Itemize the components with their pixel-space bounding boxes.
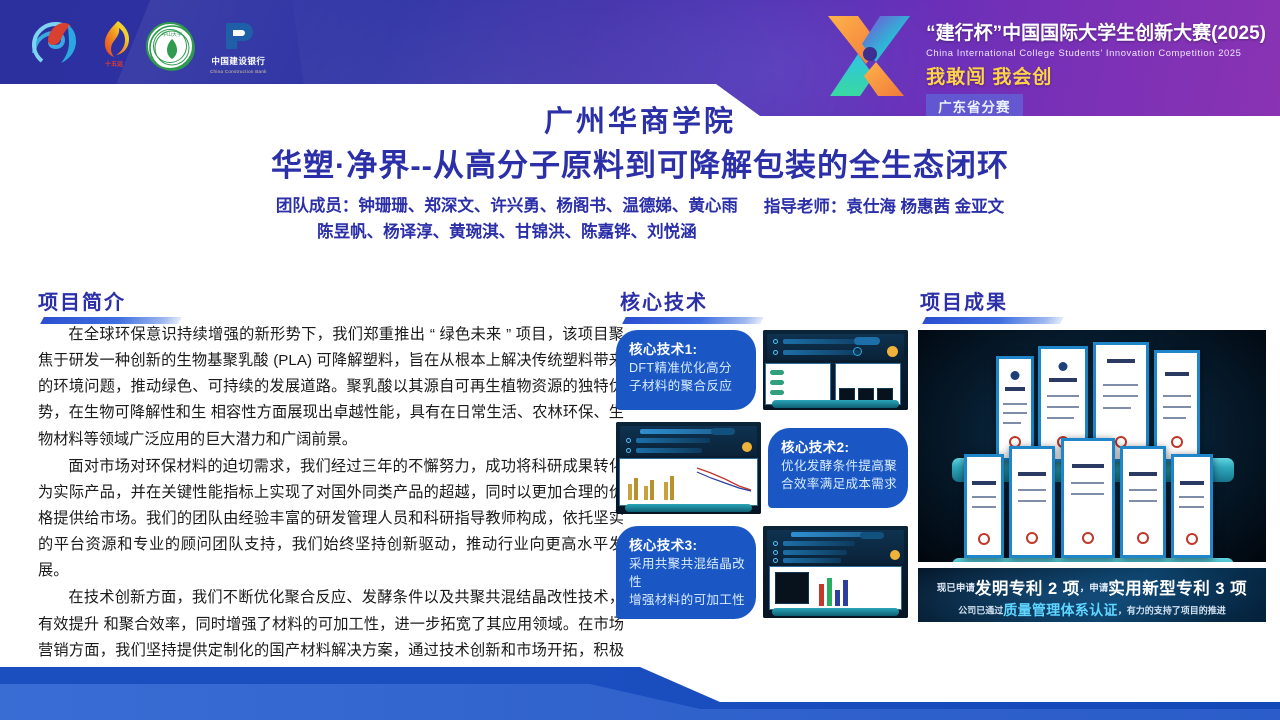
advisors-names: 袁仕海 杨惠茜 金亚文 bbox=[846, 198, 1004, 216]
tech-card-3-desc-line-1: 采用共聚共混结晶改性 bbox=[629, 556, 746, 592]
footer-band bbox=[0, 660, 1280, 720]
university-seal-logo: 中山大学 bbox=[146, 22, 194, 70]
patent-line1-mid: ，申请 bbox=[1080, 583, 1109, 594]
certificate-item bbox=[1009, 446, 1055, 558]
competition-slogan: 我敢闯 我会创 bbox=[926, 62, 1266, 89]
ccb-bank-logo: 中国建设银行 China Construction Bank bbox=[210, 19, 267, 74]
wave-emblem-logo bbox=[28, 19, 82, 74]
flame-torch-logo: 十五运 bbox=[98, 19, 130, 74]
team-members-line-1: 团队成员：钟珊珊、郑深文、许兴勇、杨阁书、温德娣、黄心雨 bbox=[276, 194, 738, 220]
wave-emblem-icon bbox=[28, 19, 82, 69]
tech-card-3-desc-line-2: 增强材料的可加工性 bbox=[629, 592, 746, 610]
tech-card-2-title: 核心技术2: bbox=[781, 436, 898, 456]
intro-text-column: 在全球环保意识持续增强的新形势下，我们郑重推出 “ 绿色未来 ” 项目，该项目聚… bbox=[38, 322, 624, 717]
ccb-mark-icon bbox=[218, 19, 258, 53]
core-technology-column: 核心技术1: DFT精准优化高分 子材料的聚合反应 bbox=[616, 330, 908, 631]
tech-slide-photo-2 bbox=[616, 422, 761, 514]
tech-card-1: 核心技术1: DFT精准优化高分 子材料的聚合反应 bbox=[616, 330, 756, 410]
sponsor-logo-strip: 十五运 中山大学 中国建设银行 China Construction Bank bbox=[28, 18, 267, 74]
section-heading-intro-label: 项目简介 bbox=[38, 286, 180, 315]
project-results-column: 现已申请发明专利 2 项，申请实用新型专利 3 项 公司已通过质量管理体系认证，… bbox=[918, 330, 1266, 622]
patent-line1-utility: 实用新型专利 3 项 bbox=[1108, 580, 1247, 598]
tech-card-3: 核心技术3: 采用共聚共混结晶改性 增强材料的可加工性 bbox=[616, 526, 756, 619]
tech-row-2: 核心技术2: 优化发酵条件提高聚 合效率满足成本需求 bbox=[616, 422, 908, 514]
tech-row-3: 核心技术3: 采用共聚共混结晶改性 增强材料的可加工性 bbox=[616, 526, 908, 619]
competition-x-logo-icon bbox=[818, 10, 918, 102]
section-heading-results-rule bbox=[922, 317, 1064, 324]
tech-row-1: 核心技术1: DFT精准优化高分 子材料的聚合反应 bbox=[616, 330, 908, 410]
intro-paragraph-2: 面对市场对环保材料的迫切需求，我们经过三年的不懈努力，成功将科研成果转化为实际产… bbox=[38, 454, 624, 585]
poster-root: 十五运 中山大学 中国建设银行 China Construction Bank bbox=[0, 0, 1280, 720]
svg-text:十五运: 十五运 bbox=[105, 60, 123, 68]
team-members-label: 团队成员： bbox=[276, 197, 359, 215]
advisors-label: 指导老师： bbox=[764, 198, 847, 216]
competition-title-en: China International College Students’ In… bbox=[926, 47, 1266, 58]
section-heading-results: 项目成果 bbox=[920, 286, 1062, 324]
title-block: 广州华商学院 华塑·净界--从高分子原料到可降解包装的全生态闭环 团队成员：钟珊… bbox=[0, 104, 1280, 245]
tech-card-1-title: 核心技术1: bbox=[629, 338, 746, 358]
tech-card-1-desc-line-2: 子材料的聚合反应 bbox=[629, 378, 746, 396]
people-row: 团队成员：钟珊珊、郑深文、许兴勇、杨阁书、温德娣、黄心雨 陈昱帆、杨译淳、黄琬淇… bbox=[0, 194, 1280, 245]
patent-banner-line-1: 现已申请发明专利 2 项，申请实用新型专利 3 项 bbox=[918, 575, 1266, 599]
tech-slide-photo-1 bbox=[763, 330, 908, 410]
section-heading-tech-label: 核心技术 bbox=[620, 286, 762, 315]
project-title: 华塑·净界--从高分子原料到可降解包装的全生态闭环 bbox=[0, 145, 1280, 187]
certificates-display-photo bbox=[918, 330, 1266, 562]
tech-card-2-desc-line-2: 合效率满足成本需求 bbox=[781, 476, 898, 494]
competition-title-cn: “建行杯”中国国际大学生创新大赛(2025) bbox=[926, 18, 1266, 45]
patent-line1-prefix: 现已申请 bbox=[937, 583, 975, 594]
patent-line2-suffix: ，有力的支持了项目的推进 bbox=[1118, 606, 1226, 616]
patent-line2-prefix: 公司已通过 bbox=[958, 606, 1003, 616]
section-heading-tech: 核心技术 bbox=[620, 286, 762, 324]
section-heading-intro: 项目简介 bbox=[38, 286, 180, 324]
display-shelf-lower bbox=[952, 558, 1234, 562]
patent-line2-cert: 质量管理体系认证 bbox=[1003, 602, 1117, 618]
team-members-block: 团队成员：钟珊珊、郑深文、许兴勇、杨阁书、温德娣、黄心雨 陈昱帆、杨译淳、黄琬淇… bbox=[276, 194, 738, 245]
section-heading-tech-rule bbox=[622, 317, 764, 324]
team-members-names-1: 钟珊珊、郑深文、许兴勇、杨阁书、温德娣、黄心雨 bbox=[358, 197, 738, 215]
tech-slide-photo-3 bbox=[763, 526, 908, 618]
patent-status-banner: 现已申请发明专利 2 项，申请实用新型专利 3 项 公司已通过质量管理体系认证，… bbox=[918, 568, 1266, 622]
tech-card-1-desc-line-1: DFT精准优化高分 bbox=[629, 360, 746, 378]
flame-torch-icon: 十五运 bbox=[98, 19, 130, 69]
tech-card-3-title: 核心技术3: bbox=[629, 534, 746, 554]
team-members-line-2: 陈昱帆、杨译淳、黄琬淇、甘锦洪、陈嘉铧、刘悦涵 bbox=[276, 220, 738, 246]
certificate-item bbox=[1120, 446, 1166, 558]
school-name: 广州华商学院 bbox=[0, 104, 1280, 140]
university-seal-icon: 中山大学 bbox=[148, 24, 196, 72]
certificate-item bbox=[964, 454, 1004, 558]
section-heading-results-label: 项目成果 bbox=[920, 286, 1062, 315]
advisors-block: 指导老师：袁仕海 杨惠茜 金亚文 bbox=[764, 194, 1004, 221]
patent-line1-invention: 发明专利 2 项 bbox=[975, 580, 1080, 598]
certificate-item bbox=[1061, 438, 1115, 558]
ccb-name-en: China Construction Bank bbox=[210, 69, 267, 74]
tech-card-2: 核心技术2: 优化发酵条件提高聚 合效率满足成本需求 bbox=[768, 428, 908, 508]
tech-card-2-desc-line-1: 优化发酵条件提高聚 bbox=[781, 458, 898, 476]
competition-lockup: “建行杯”中国国际大学生创新大赛(2025) China Internation… bbox=[818, 6, 1266, 119]
svg-text:中山大学: 中山大学 bbox=[162, 31, 182, 38]
intro-paragraph-1: 在全球环保意识持续增强的新形势下，我们郑重推出 “ 绿色未来 ” 项目，该项目聚… bbox=[38, 322, 624, 453]
certificate-item bbox=[1171, 454, 1213, 558]
patent-banner-line-2: 公司已通过质量管理体系认证，有力的支持了项目的推进 bbox=[918, 600, 1266, 620]
ccb-name-cn: 中国建设银行 bbox=[211, 55, 265, 67]
